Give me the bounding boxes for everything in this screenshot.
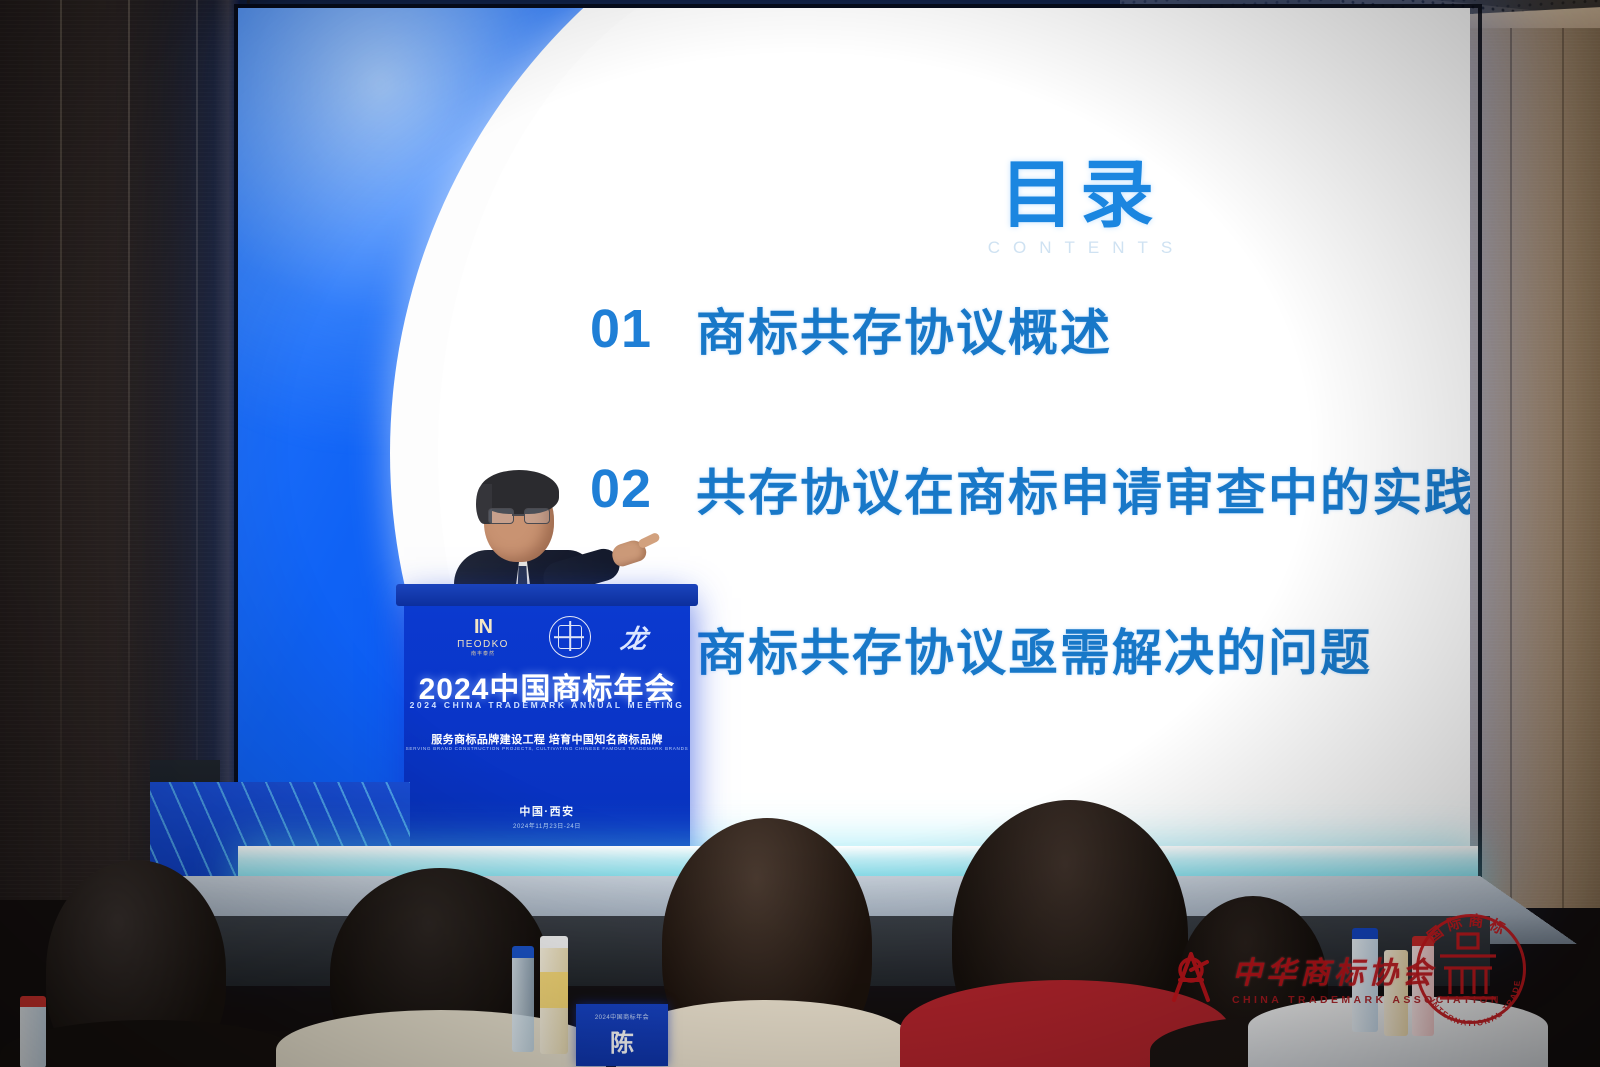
screenshot-root: 目录 CONTENTS 01 商标共存协议概述 02 共存协议在商标申请审查中的… [0, 0, 1600, 1067]
water-bottle [20, 1004, 46, 1067]
calligraphy-logo-icon: 龙 [618, 619, 649, 656]
water-bottle [512, 952, 534, 1052]
table-of-contents: 01 商标共存协议概述 02 共存协议在商标申请审查中的实践 03 商标共存协议… [590, 293, 1430, 773]
lectern-city: 中国·西安 [404, 803, 690, 819]
slide-title-en: CONTENTS [870, 238, 1290, 258]
lectern-logo-row: IN ΠEODKO 南丰泰然 龙 [404, 616, 690, 658]
lectern-date: 2024年11月23日-24日 [404, 821, 690, 830]
name-card-event-line: 2024中国商标年会 [595, 1012, 649, 1021]
neodko-chinese-name: 南丰泰然 [447, 650, 519, 657]
beverage-bottle [1384, 950, 1408, 1036]
cta-emblem-icon [549, 616, 591, 658]
name-card-name: 陈 [610, 1023, 634, 1058]
lectern-subtitle-en: SERVING BRAND CONSTRUCTION PROJECTS, CUL… [404, 746, 690, 751]
beverage-bottle [1412, 944, 1434, 1036]
bottle-cap [20, 996, 46, 1007]
toc-item-label: 商标共存协议概述 [696, 293, 1112, 365]
bottle-cap [512, 946, 534, 958]
water-bottle [1352, 936, 1378, 1032]
right-wall-panel [1466, 28, 1600, 908]
bottle-cap [1412, 936, 1434, 946]
slide-heading-group: 目录 CONTENTS [870, 158, 1290, 258]
toc-item-number: 01 [590, 298, 696, 360]
delegate-name-card: 2024中国商标年会 陈 [576, 1004, 668, 1066]
glasses-icon [486, 508, 552, 522]
toc-item-label: 共存协议在商标申请审查中的实践 [696, 453, 1470, 525]
toc-item-1: 01 商标共存协议概述 [590, 293, 1430, 365]
neodko-wordmark: ΠEODKO [447, 639, 519, 650]
lectern-title-en: 2024 CHINA TRADEMARK ANNUAL MEETING [404, 700, 690, 710]
toc-item-3: 03 商标共存协议亟需解决的问题 [590, 613, 1430, 685]
toc-item-label: 商标共存协议亟需解决的问题 [696, 613, 1372, 685]
neodko-mark-icon: IN [447, 617, 519, 637]
bottle-cap [540, 936, 568, 948]
bottle-label [540, 972, 568, 1008]
bottle-cap [1352, 928, 1378, 939]
neodko-logo: IN ΠEODKO 南丰泰然 [447, 617, 519, 657]
slide-title-cn: 目录 [870, 158, 1290, 232]
toc-item-2: 02 共存协议在商标申请审查中的实践 [590, 453, 1430, 525]
lectern-subtitle-cn: 服务商标品牌建设工程 培育中国知名商标品牌 [404, 731, 690, 747]
